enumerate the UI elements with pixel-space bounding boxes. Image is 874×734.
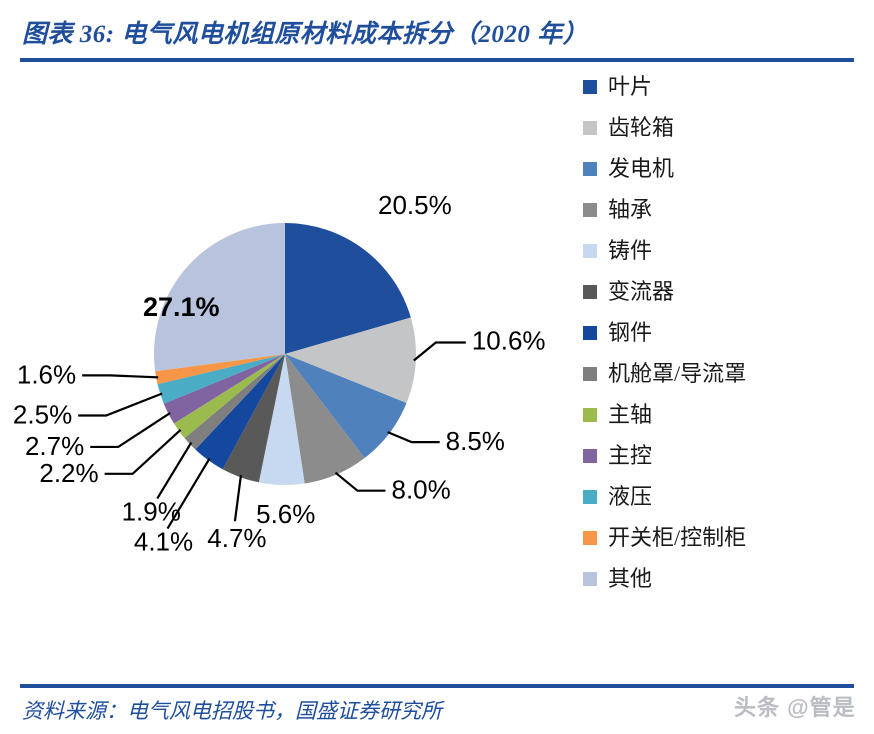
footer-divider	[20, 684, 854, 688]
legend-item[interactable]: 叶片	[583, 66, 863, 107]
pie-slice-label: 1.9%	[122, 497, 181, 527]
legend-swatch-icon	[583, 162, 597, 176]
legend-item-label: 发电机	[608, 158, 674, 180]
legend-item[interactable]: 液压	[583, 476, 863, 517]
legend-item-label: 机舱罩/导流罩	[608, 363, 746, 385]
pie-slice-label: 2.7%	[25, 431, 84, 461]
legend-swatch-icon	[583, 408, 597, 422]
pie-slices[interactable]	[154, 223, 416, 485]
leader-line	[90, 413, 170, 447]
pie-slice-label: 4.1%	[134, 527, 193, 557]
leader-line	[335, 473, 385, 491]
legend-item-label: 变流器	[608, 281, 674, 303]
pie-slice-label: 1.6%	[17, 359, 76, 389]
legend-item[interactable]: 变流器	[583, 271, 863, 312]
legend-item[interactable]: 铸件	[583, 230, 863, 271]
legend-swatch-icon	[583, 326, 597, 340]
leader-line	[157, 443, 191, 499]
legend-swatch-icon	[583, 490, 597, 504]
pie-slice-label: 2.5%	[13, 399, 72, 429]
legend-item-label: 钢件	[608, 322, 652, 344]
legend-swatch-icon	[583, 449, 597, 463]
legend-swatch-icon	[583, 285, 597, 299]
legend-swatch-icon	[583, 80, 597, 94]
page-title: 图表 36: 电气风电机组原材料成本拆分（2020 年）	[22, 14, 588, 50]
legend-item-label: 开关柜/控制柜	[608, 527, 746, 549]
chart-legend: 叶片齿轮箱发电机轴承铸件变流器钢件机舱罩/导流罩主轴主控液压开关柜/控制柜其他	[583, 66, 863, 599]
legend-item-label: 其他	[608, 568, 652, 590]
leader-line	[105, 430, 181, 474]
leader-line	[235, 475, 241, 521]
leader-line	[388, 432, 440, 442]
legend-item-label: 铸件	[608, 240, 652, 262]
legend-item-label: 叶片	[608, 76, 652, 98]
legend-item-label: 齿轮箱	[608, 117, 674, 139]
watermark: 头条 @管是	[734, 690, 856, 722]
legend-item[interactable]: 发电机	[583, 148, 863, 189]
figure-header: 图表 36: 电气风电机组原材料成本拆分（2020 年）	[0, 0, 874, 62]
legend-item[interactable]: 其他	[583, 558, 863, 599]
legend-swatch-icon	[583, 572, 597, 586]
source-note: 资料来源：电气风电招股书，国盛证券研究所	[22, 695, 442, 725]
pie-slice-label: 10.6%	[472, 325, 546, 355]
leader-line	[82, 375, 158, 377]
pie-slice-label: 8.0%	[391, 475, 450, 505]
legend-item[interactable]: 轴承	[583, 189, 863, 230]
pie-slice-label: 4.7%	[207, 523, 266, 553]
leader-line	[78, 393, 162, 415]
legend-item[interactable]: 机舱罩/导流罩	[583, 353, 863, 394]
legend-item-label: 液压	[608, 486, 652, 508]
legend-item[interactable]: 主轴	[583, 394, 863, 435]
legend-item-label: 主轴	[608, 404, 652, 426]
legend-swatch-icon	[583, 203, 597, 217]
legend-item-label: 轴承	[608, 199, 652, 221]
legend-swatch-icon	[583, 121, 597, 135]
legend-item[interactable]: 钢件	[583, 312, 863, 353]
legend-item[interactable]: 开关柜/控制柜	[583, 517, 863, 558]
legend-item[interactable]: 主控	[583, 435, 863, 476]
pie-slice-label: 8.5%	[446, 426, 505, 456]
pie-slice-label: 27.1%	[143, 292, 220, 322]
legend-swatch-icon	[583, 531, 597, 545]
header-divider	[20, 58, 854, 62]
pie-slice-label: 20.5%	[378, 190, 452, 220]
pie-slice-label: 2.2%	[39, 458, 98, 488]
legend-item-label: 主控	[608, 445, 652, 467]
legend-item[interactable]: 齿轮箱	[583, 107, 863, 148]
leader-line	[414, 342, 466, 360]
legend-swatch-icon	[583, 244, 597, 258]
legend-swatch-icon	[583, 367, 597, 381]
